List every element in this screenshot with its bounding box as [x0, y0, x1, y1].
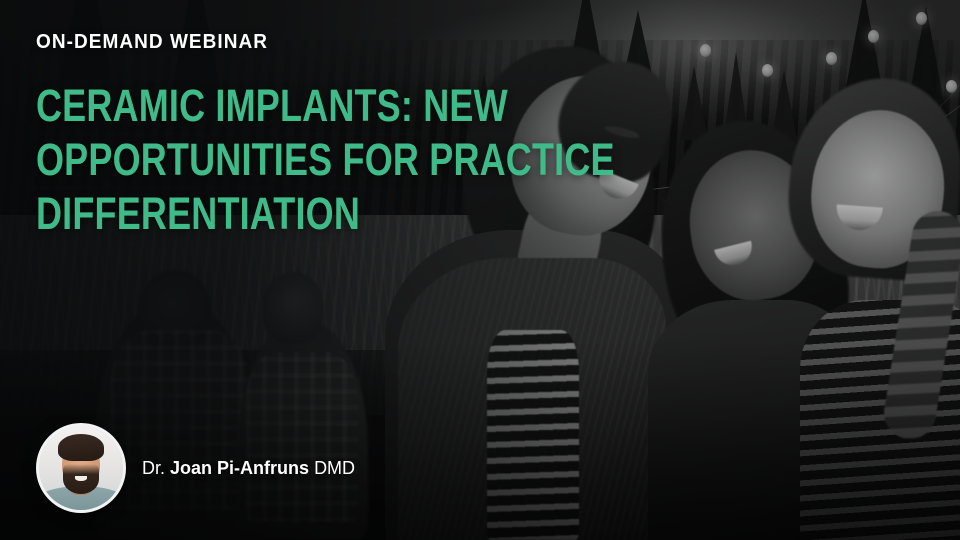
presenter-block: Dr. Joan Pi-Anfruns DMD — [36, 423, 355, 513]
avatar-brow-right — [84, 452, 93, 455]
avatar-eye-right — [85, 456, 91, 459]
presenter-credentials: DMD — [314, 458, 355, 478]
avatar-eye-left — [69, 456, 75, 459]
headline-line-3: DIFFERENTIATION — [36, 187, 484, 241]
page-title: CERAMIC IMPLANTS: NEW OPPORTUNITIES FOR … — [36, 79, 484, 241]
avatar-hair — [58, 434, 103, 461]
banner-content: ON-DEMAND WEBINAR CERAMIC IMPLANTS: NEW … — [0, 0, 960, 540]
avatar — [36, 423, 126, 513]
presenter-prefix: Dr. — [142, 458, 165, 478]
webinar-promo-banner: ON-DEMAND WEBINAR CERAMIC IMPLANTS: NEW … — [0, 0, 960, 540]
presenter-full-name: Joan Pi-Anfruns — [170, 458, 309, 478]
presenter-name: Dr. Joan Pi-Anfruns DMD — [142, 459, 355, 477]
headline-line-1: CERAMIC IMPLANTS: NEW — [36, 79, 484, 133]
headline-line-2: OPPORTUNITIES FOR PRACTICE — [36, 133, 484, 187]
eyebrow-label: ON-DEMAND WEBINAR — [36, 32, 268, 52]
avatar-brow-left — [68, 452, 77, 455]
